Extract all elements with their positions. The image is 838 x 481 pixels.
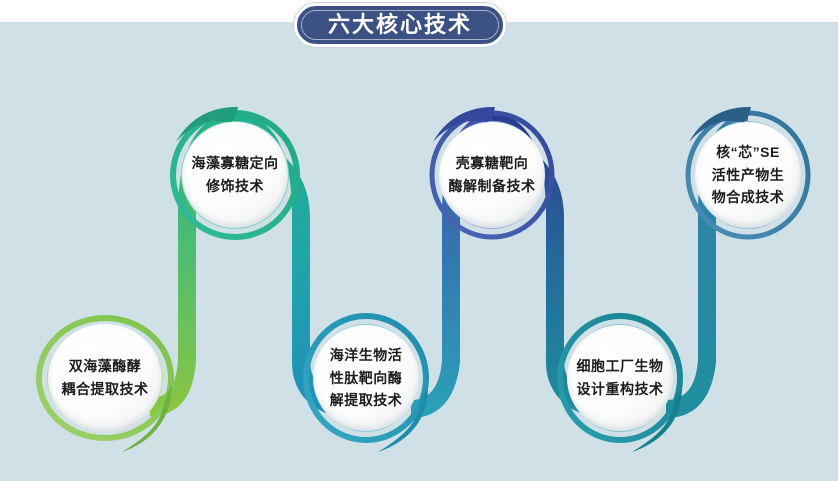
node-3-line-3: 解提取技术 bbox=[330, 389, 403, 412]
node-4[interactable]: 壳寡糖靶向 酶解制备技术 bbox=[439, 122, 545, 228]
node-2-label: 海藻寡糖定向 修饰技术 bbox=[182, 122, 288, 228]
node-2[interactable]: 海藻寡糖定向 修饰技术 bbox=[182, 122, 288, 228]
node-5[interactable]: 细胞工厂生物 设计重构技术 bbox=[567, 325, 673, 431]
node-4-line-2: 酶解制备技术 bbox=[449, 175, 536, 198]
node-6-line-1: 核“芯”SE bbox=[716, 141, 780, 164]
node-1[interactable]: 双海藻酶酵 耦合提取技术 bbox=[48, 324, 162, 432]
node-6-line-3: 物合成技术 bbox=[712, 186, 785, 209]
node-1-line-1: 双海藻酶酵 bbox=[69, 355, 142, 378]
node-2-line-2: 修饰技术 bbox=[206, 175, 264, 198]
node-5-label: 细胞工厂生物 设计重构技术 bbox=[567, 325, 673, 431]
node-1-line-2: 耦合提取技术 bbox=[62, 378, 149, 401]
node-6-label: 核“芯”SE 活性产物生 物合成技术 bbox=[695, 122, 801, 228]
node-2-line-1: 海藻寡糖定向 bbox=[192, 152, 279, 175]
node-3-line-1: 海洋生物活 bbox=[330, 344, 403, 367]
node-3-label: 海洋生物活 性肽靶向酶 解提取技术 bbox=[313, 325, 419, 431]
node-1-label: 双海藻酶酵 耦合提取技术 bbox=[48, 324, 162, 432]
page-title-pill: 六大核心技术 bbox=[294, 3, 506, 47]
page-title: 六大核心技术 bbox=[328, 14, 472, 36]
node-3[interactable]: 海洋生物活 性肽靶向酶 解提取技术 bbox=[313, 325, 419, 431]
node-6[interactable]: 核“芯”SE 活性产物生 物合成技术 bbox=[695, 122, 801, 228]
node-5-line-2: 设计重构技术 bbox=[577, 378, 664, 401]
node-6-line-2: 活性产物生 bbox=[712, 164, 785, 187]
node-4-line-1: 壳寡糖靶向 bbox=[456, 152, 529, 175]
diagram-canvas: 双海藻酶酵 耦合提取技术 海藻寡糖定向 修饰技术 海洋生物活 性肽靶向酶 解提取… bbox=[0, 0, 838, 481]
node-3-line-2: 性肽靶向酶 bbox=[330, 367, 403, 390]
node-5-line-1: 细胞工厂生物 bbox=[577, 355, 664, 378]
node-4-label: 壳寡糖靶向 酶解制备技术 bbox=[439, 122, 545, 228]
